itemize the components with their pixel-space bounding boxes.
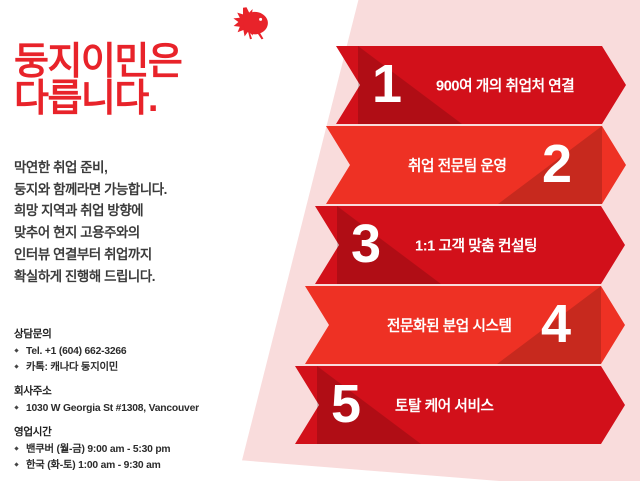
banner-label: 900여 개의 취업처 연결: [436, 75, 574, 96]
banner-label: 토탈 케어 서비스: [395, 395, 494, 416]
feature-banner-3[interactable]: 3 1:1 고객 맞춤 컨설팅: [315, 206, 625, 284]
banner-number: 4: [541, 297, 569, 351]
feature-banner-5[interactable]: 5 토탈 케어 서비스: [295, 366, 625, 444]
banner-number: 1: [372, 57, 400, 111]
banner-label: 1:1 고객 맞춤 컨설팅: [415, 235, 537, 256]
feature-banner-2[interactable]: 2 취업 전문팀 운영: [326, 126, 626, 204]
banner-number: 5: [331, 377, 359, 431]
feature-banner-4[interactable]: 4 전문화된 분업 시스템: [305, 286, 625, 364]
banner-label: 전문화된 분업 시스템: [387, 315, 512, 336]
banner-label: 취업 전문팀 운영: [408, 155, 507, 176]
feature-banner-1[interactable]: 1 900여 개의 취업처 연결: [336, 46, 626, 124]
banner-number: 2: [542, 137, 570, 191]
banner-number: 3: [351, 217, 379, 271]
feature-banner-list: 1 900여 개의 취업처 연결 2 취업 전문팀 운영 3 1:1 고객 맞춤…: [0, 0, 640, 481]
poster-canvas: 둥지이민은 다릅니다. 막연한 취업 준비, 둥지와 함께라면 가능합니다. 희…: [0, 0, 640, 481]
